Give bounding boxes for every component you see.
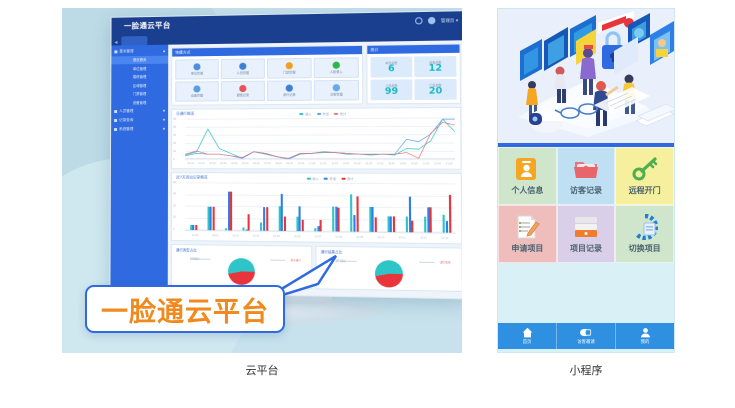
sidebar-group-label: 人员管理 <box>119 108 133 113</box>
bar <box>302 219 304 231</box>
person-icon <box>239 62 246 69</box>
stat-unit: 单位总数 6 <box>371 57 413 78</box>
shortcut-label: 人脸录入 <box>330 70 343 74</box>
stat-card: 统计 单位总数 6 设备总数 12 <box>366 43 461 104</box>
sidebar-group-records[interactable]: 记录查询 ▼ <box>111 116 168 124</box>
shortcut-face[interactable]: 人脸录入 <box>314 57 359 78</box>
grid-icon <box>114 50 117 53</box>
stat-device: 设备总数 12 <box>414 56 456 77</box>
shortcut-label: 报警记录 <box>237 93 249 97</box>
pie-legend-left: 刷脸通行 <box>190 256 200 260</box>
form-pencil-icon <box>514 214 540 240</box>
id-badge-icon <box>514 156 540 182</box>
shortcut-label: 单位管理 <box>191 72 203 76</box>
shortcut-label: 门禁管理 <box>283 70 295 74</box>
tile-label: 个人信息 <box>511 185 543 196</box>
gear-icon <box>114 128 117 131</box>
caption-mini-program: 小程序 <box>497 362 675 378</box>
pie-title: 通行类型占比 <box>172 245 311 254</box>
key-icon <box>632 156 658 182</box>
sidebar: 基本管理 ▲ 首页首页 单位管理 楼栋管理 区域管理 门禁管理 设备管理 人员管… <box>110 45 168 295</box>
tile-visitor-records[interactable]: 访客记录 <box>557 147 616 205</box>
legend-item: 外出 <box>324 176 336 180</box>
nav-visitor-invite[interactable]: 访客邀请 <box>557 323 616 349</box>
bar <box>284 217 286 231</box>
line-chart-plot: 5040302010000:0001:0002:0003:0004:0005:0… <box>177 117 455 165</box>
shortcut-device[interactable]: 设备管理 <box>175 81 219 101</box>
callout-bubble: 一脸通云平台 <box>85 285 285 333</box>
shortcut-label: 通行记录 <box>283 93 295 97</box>
bar <box>356 196 358 232</box>
chevron-up-icon: ▲ <box>163 49 165 53</box>
list-icon <box>114 119 117 122</box>
stat-value: 20 <box>429 87 443 96</box>
invite-icon <box>580 327 592 338</box>
stat-access: 门禁总数 20 <box>414 79 456 100</box>
shortcut-card: 快捷方式 单位管理 人员管理 <box>171 45 363 106</box>
tile-switch-project[interactable]: 切换项目 <box>615 205 674 263</box>
bar-chart-legend: 进入 外出 合计 <box>307 176 354 180</box>
shortcut-grid: 单位管理 人员管理 门禁管理 <box>172 54 362 105</box>
stat-value: 99 <box>385 87 398 96</box>
tile-personal-info[interactable]: 个人信息 <box>498 147 557 205</box>
bar <box>320 219 322 231</box>
bar <box>411 220 413 232</box>
bar <box>248 214 250 230</box>
sidebar-item-area[interactable]: 区域管理 <box>111 81 168 89</box>
shortcut-label: 设备管理 <box>191 94 203 98</box>
tile-project-records[interactable]: 项目记录 <box>557 205 616 263</box>
sidebar-group-label: 基本管理 <box>119 49 133 54</box>
nav-profile[interactable]: 我的 <box>616 323 674 349</box>
visitor-icon <box>333 84 340 91</box>
line-chart-svg <box>185 117 455 159</box>
chevron-down-icon: ▼ <box>163 127 165 131</box>
pie-chart <box>374 260 402 288</box>
shortcut-unit[interactable]: 单位管理 <box>175 59 219 80</box>
shortcut-label: 访客管理 <box>330 93 343 97</box>
bar-group <box>256 184 273 231</box>
search-icon[interactable] <box>415 17 423 24</box>
tile-label: 申请项目 <box>511 243 543 254</box>
shortcut-label: 人员管理 <box>237 71 249 75</box>
bar <box>430 207 432 232</box>
log-icon <box>286 84 293 91</box>
building-icon <box>193 63 200 70</box>
key-icon <box>286 62 293 69</box>
shortcut-alarm[interactable]: 报警记录 <box>221 81 265 102</box>
figure-root: 一脸通云平台 管理员 ▾ ◀ 基本管理 ▲ <box>0 0 735 408</box>
bar <box>393 216 395 232</box>
isometric-security-illustration <box>498 9 674 143</box>
sidebar-group-label: 系统管理 <box>119 126 133 131</box>
tile-label: 项目记录 <box>570 243 602 254</box>
bar-chart-title: 近7天进出记录概览 <box>176 175 208 180</box>
bar-group <box>438 184 456 232</box>
legend-item: 合计 <box>341 176 353 180</box>
home-icon <box>522 327 533 338</box>
tile-label: 远程开门 <box>629 185 661 196</box>
bar-group <box>419 184 437 232</box>
bar <box>266 207 268 231</box>
bar-group <box>291 184 308 231</box>
alarm-icon <box>239 85 246 92</box>
legend-item: 外出 <box>317 111 329 115</box>
bar <box>448 195 451 232</box>
topbar-actions: 管理员 ▾ <box>415 16 462 24</box>
bar-group <box>238 184 255 231</box>
mini-program-tiles: 个人信息 访客记录 <box>498 147 674 263</box>
tile-label: 切换项目 <box>629 243 661 254</box>
person-icon <box>114 110 117 113</box>
shortcut-visitor[interactable]: 访客管理 <box>314 80 359 101</box>
sidebar-item-unit[interactable]: 单位管理 <box>111 64 168 72</box>
bar-group <box>203 183 220 230</box>
bar-group <box>401 184 419 232</box>
bar-group <box>327 184 344 232</box>
tab-home[interactable] <box>121 36 147 45</box>
chevron-down-icon: ▼ <box>163 118 165 122</box>
bar-group <box>185 183 202 230</box>
nav-label: 首页 <box>523 339 532 345</box>
shortcut-log[interactable]: 通行记录 <box>267 80 312 101</box>
legend-item: 进入 <box>307 176 319 180</box>
bar <box>230 192 232 231</box>
dashboard-top-row: 快捷方式 单位管理 人员管理 <box>171 43 461 105</box>
mini-program-panel: 个人信息 访客记录 <box>497 8 675 353</box>
pie-chart <box>228 258 255 285</box>
bar <box>213 207 215 230</box>
tile-label: 访客记录 <box>570 185 602 196</box>
line-chart-card: 日通行概览 进入 外出 合计 5040302010000:0001:0002:0… <box>171 107 462 170</box>
legend-item: 进入 <box>299 111 311 115</box>
line-chart-legend: 进入 外出 合计 <box>299 111 346 115</box>
sidebar-item-device[interactable]: 设备管理 <box>111 98 168 106</box>
nav-home[interactable]: 首页 <box>498 323 557 349</box>
bar-group-container <box>185 183 456 232</box>
profile-icon <box>640 327 651 338</box>
shortcut-access[interactable]: 门禁管理 <box>267 58 312 79</box>
stat-value: 6 <box>388 64 395 73</box>
bar-group <box>309 184 326 232</box>
stat-grid: 单位总数 6 设备总数 12 人员总数 99 <box>367 53 460 104</box>
bar-group <box>220 183 237 230</box>
bar-group <box>382 184 400 232</box>
bar <box>195 225 197 230</box>
tile-apply-project[interactable]: 申请项目 <box>498 205 557 263</box>
sidebar-group-person[interactable]: 人员管理 ▼ <box>111 107 168 115</box>
sidebar-group-system[interactable]: 系统管理 ▼ <box>111 125 168 133</box>
shortcut-person[interactable]: 人员管理 <box>221 58 265 79</box>
nav-label: 访客邀请 <box>577 339 595 345</box>
sidebar-item-building[interactable]: 楼栋管理 <box>111 73 168 81</box>
bar-chart-plot: 40302010003-0103-0203-0303-0403-0503-060… <box>177 182 456 240</box>
bar <box>338 208 340 232</box>
line-chart-title: 日通行概览 <box>176 112 194 117</box>
help-icon[interactable] <box>428 17 436 24</box>
stat-value: 12 <box>429 64 443 73</box>
chevron-down-icon: ▼ <box>163 109 165 113</box>
sidebar-item-home[interactable]: 首页首页 <box>111 56 168 64</box>
mini-program-banner <box>498 9 674 143</box>
face-icon <box>333 61 340 68</box>
pie-legend-right: 通行失败 <box>440 260 450 264</box>
mini-program-navbar: 首页 访客邀请 我的 <box>498 323 674 349</box>
user-menu[interactable]: 管理员 ▾ <box>441 17 458 24</box>
mini-program-blank-area <box>498 263 674 323</box>
nav-label: 我的 <box>641 339 650 345</box>
sidebar-item-access[interactable]: 门禁管理 <box>111 90 168 98</box>
bar-group <box>364 184 382 232</box>
callout-text: 一脸通云平台 <box>101 290 269 329</box>
app-title: 一脸通云平台 <box>111 16 183 34</box>
folder-user-icon <box>573 156 599 182</box>
bar-group <box>346 184 363 232</box>
bar <box>374 218 376 232</box>
switch-icon <box>632 214 658 240</box>
bar-chart-card: 近7天进出记录概览 进入 外出 合计 40302010003-0103-0203… <box>171 172 462 244</box>
sidebar-group-basic[interactable]: 基本管理 ▲ <box>111 47 168 56</box>
sidebar-group-label: 记录查询 <box>119 117 133 122</box>
bar-group <box>273 184 290 231</box>
legend-item: 合计 <box>334 111 346 115</box>
device-icon <box>193 85 200 92</box>
archive-icon <box>573 214 599 240</box>
tile-remote-door[interactable]: 远程开门 <box>615 147 674 205</box>
caption-cloud-platform: 云平台 <box>62 362 462 378</box>
stat-person: 人员总数 99 <box>371 79 413 100</box>
